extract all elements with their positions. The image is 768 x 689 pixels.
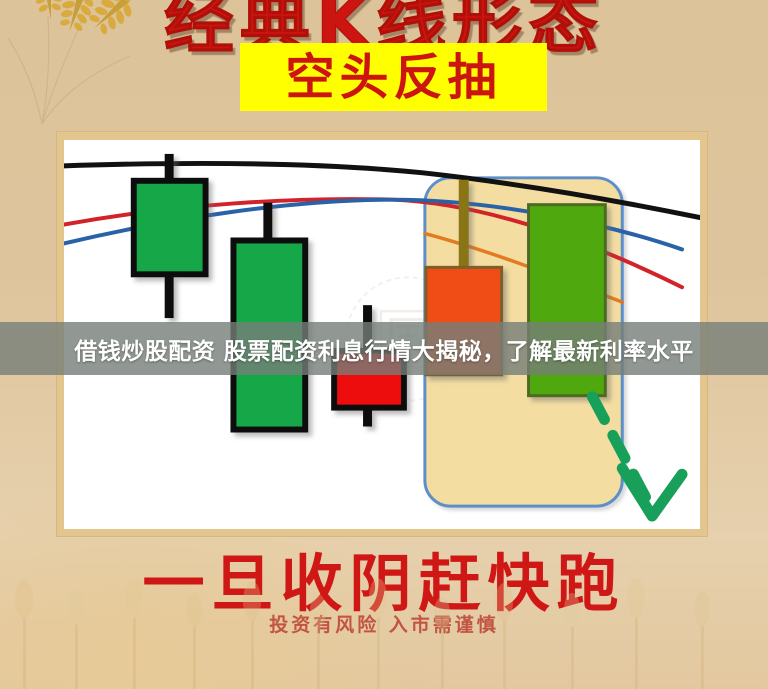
poster-subhead: 空头反抽 [285,53,501,102]
risk-disclaimer: 投资有风险 入市需谨慎 [0,610,768,637]
poster-canvas: 经典K线形态 空头反抽 囯 [0,0,768,689]
poster-subhead-banner: 空头反抽 [240,43,547,111]
candlestick-1 [134,154,206,318]
caption-overlay-bar: 借钱炒股配资 股票配资利息行情大揭秘，了解最新利率水平 [0,322,768,375]
candlestick-2 [233,203,305,430]
caption-text: 借钱炒股配资 股票配资利息行情大揭秘，了解最新利率水平 [0,332,768,366]
